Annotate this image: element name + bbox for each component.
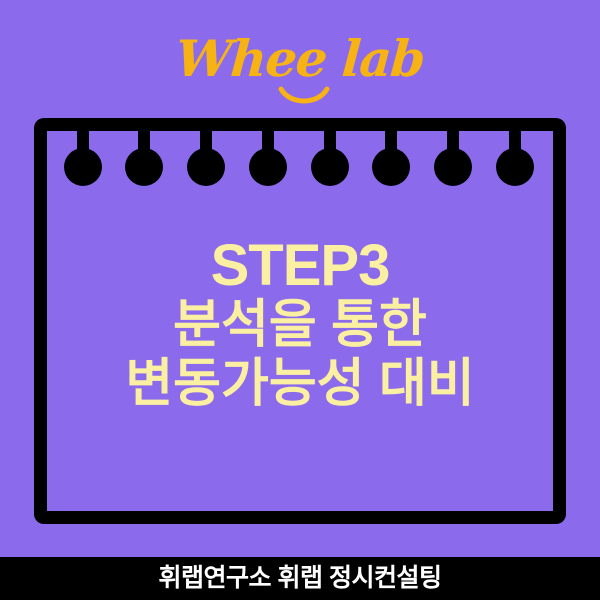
- notebook-frame: [34, 118, 566, 524]
- brand-logo: Whee lab: [0, 28, 600, 90]
- brand-logo-text: Whee lab: [174, 34, 425, 84]
- smile-swash-icon: [278, 86, 330, 108]
- bottom-banner-text: 휘랩연구소 휘랩 정시컨설팅: [159, 566, 442, 591]
- promo-card: Whee lab: [0, 0, 600, 600]
- bottom-banner: 휘랩연구소 휘랩 정시컨설팅: [0, 557, 600, 600]
